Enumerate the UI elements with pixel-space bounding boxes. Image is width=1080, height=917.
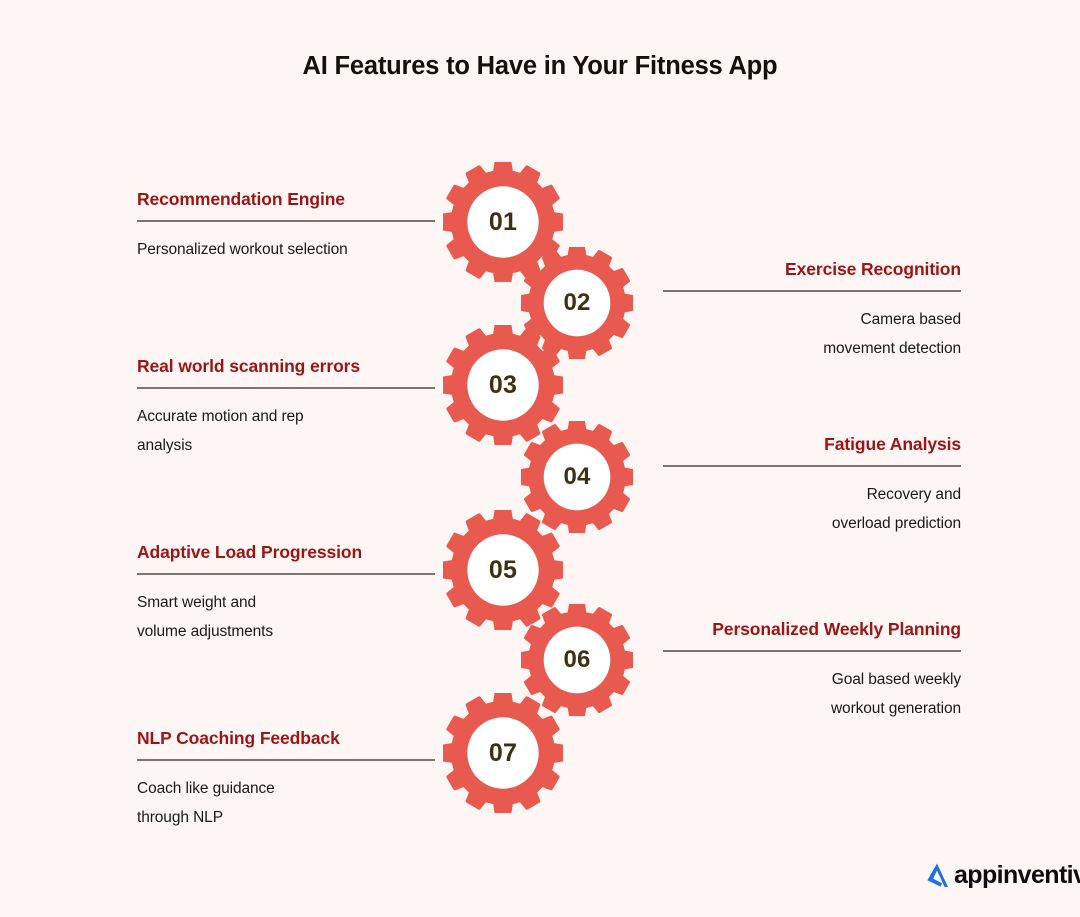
- feature-block-07: NLP Coaching Feedback Coach like guidanc…: [137, 728, 435, 832]
- feature-heading-06: Personalized Weekly Planning: [663, 619, 961, 641]
- feature-divider-01: [137, 220, 435, 222]
- page-title: AI Features to Have in Your Fitness App: [0, 52, 1080, 81]
- gear-icon-07: 07: [443, 693, 563, 813]
- feature-divider-05: [137, 573, 435, 575]
- feature-heading-05: Adaptive Load Progression: [137, 542, 435, 564]
- feature-block-04: Fatigue Analysis Recovery and overload p…: [663, 434, 961, 538]
- feature-divider-02: [663, 290, 961, 292]
- feature-divider-03: [137, 387, 435, 389]
- feature-divider-06: [663, 650, 961, 652]
- feature-description-05: Smart weight and volume adjustments: [137, 588, 435, 646]
- feature-heading-01: Recommendation Engine: [137, 189, 435, 211]
- feature-heading-03: Real world scanning errors: [137, 356, 435, 378]
- feature-description-01: Personalized workout selection: [137, 235, 435, 264]
- feature-description-04: Recovery and overload prediction: [663, 480, 961, 538]
- feature-description-06: Goal based weekly workout generation: [663, 665, 961, 723]
- feature-heading-04: Fatigue Analysis: [663, 434, 961, 456]
- feature-block-02: Exercise Recognition Camera based moveme…: [663, 259, 961, 363]
- appinventiv-logo: appinventiv: [922, 860, 1080, 890]
- feature-heading-07: NLP Coaching Feedback: [137, 728, 435, 750]
- feature-description-07: Coach like guidance through NLP: [137, 774, 435, 832]
- gear-shape: [443, 693, 563, 813]
- feature-divider-04: [663, 465, 961, 467]
- feature-heading-02: Exercise Recognition: [663, 259, 961, 281]
- feature-divider-07: [137, 759, 435, 761]
- feature-block-05: Adaptive Load Progression Smart weight a…: [137, 542, 435, 646]
- appinventiv-logo-mark-icon: [922, 860, 952, 890]
- feature-description-02: Camera based movement detection: [663, 305, 961, 363]
- logo-text: appinventiv: [954, 863, 1080, 888]
- feature-block-01: Recommendation Engine Personalized worko…: [137, 189, 435, 264]
- feature-block-06: Personalized Weekly Planning Goal based …: [663, 619, 961, 723]
- feature-block-03: Real world scanning errors Accurate moti…: [137, 356, 435, 460]
- feature-description-03: Accurate motion and rep analysis: [137, 402, 435, 460]
